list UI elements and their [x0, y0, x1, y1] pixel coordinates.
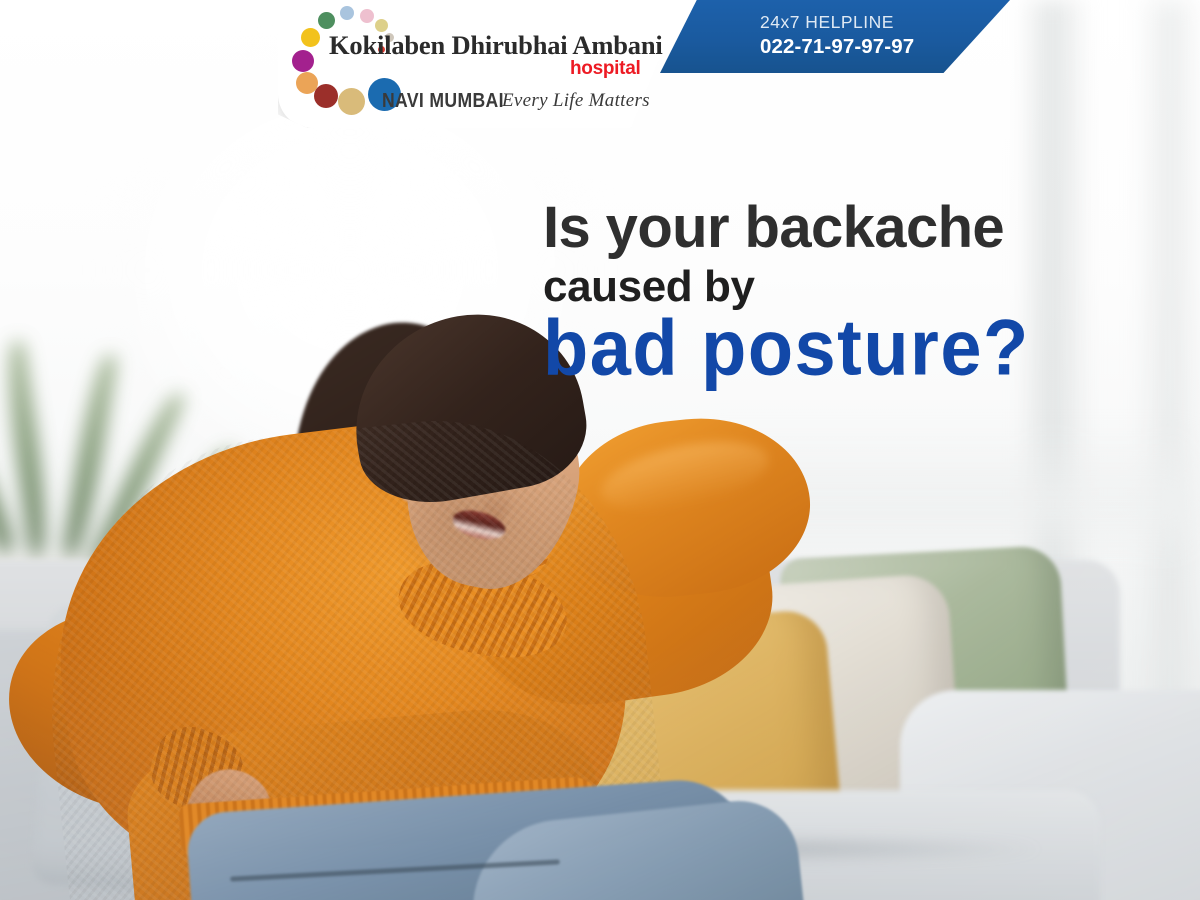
- helpline-label: 24x7 HELPLINE: [760, 12, 914, 34]
- hospital-logo[interactable]: Kokilaben Dhirubhai Ambani hospital NAVI…: [290, 4, 690, 122]
- poster-root: Kokilaben Dhirubhai Ambani hospital NAVI…: [0, 0, 1200, 900]
- logo-city-label: NAVI MUMBAI: [382, 90, 504, 113]
- logo-dot-10: [338, 88, 365, 115]
- logo-dot-0: [318, 12, 335, 29]
- photo-scene: [0, 0, 1200, 900]
- helpline-text-group: 24x7 HELPLINE 022-71-97-97-97: [760, 12, 914, 61]
- logo-hospital-word: hospital: [570, 58, 640, 80]
- logo-dot-5: [301, 28, 320, 47]
- logo-dot-7: [292, 50, 314, 72]
- logo-dot-9: [314, 84, 338, 108]
- logo-dot-2: [360, 9, 374, 23]
- logo-tagline: Every Life Matters: [502, 90, 650, 112]
- helpline-number[interactable]: 022-71-97-97-97: [760, 34, 914, 61]
- logo-dot-1: [340, 6, 354, 20]
- headline-block: Is your backache caused by bad posture?: [543, 198, 1030, 383]
- headline-line-3: bad posture?: [543, 309, 1030, 387]
- logo-hospital-name: Kokilaben Dhirubhai Ambani: [329, 30, 663, 61]
- headline-line-1: Is your backache: [543, 198, 1030, 257]
